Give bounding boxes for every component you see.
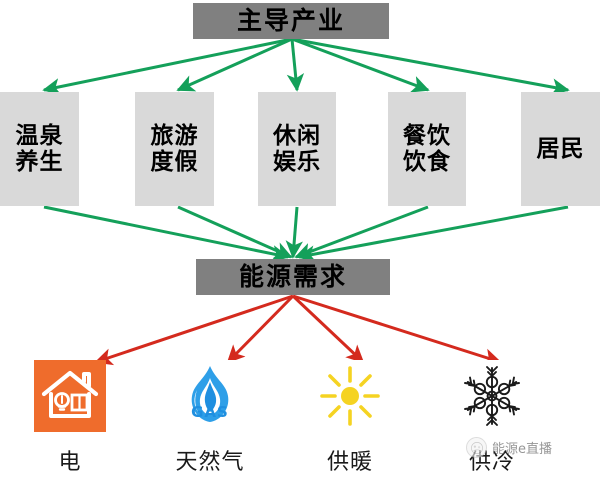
node-category-leisure-label: 休闲 娱乐 xyxy=(273,123,321,175)
energy-label-natural-gas: 天然气 xyxy=(175,444,244,476)
node-category-hot-spring-label: 温泉 养生 xyxy=(16,123,64,175)
node-main-industry[interactable]: 主导产业 xyxy=(193,3,389,39)
node-category-residents-label: 居民 xyxy=(537,136,585,162)
house-electricity-icon xyxy=(34,360,106,432)
diagram-canvas: 主导产业 温泉 养生 旅游 度假 休闲 娱乐 餐饮 饮食 居民 能源需求 xyxy=(0,0,612,483)
watermark-logo-icon xyxy=(466,437,487,458)
watermark-text: 能源e直播 xyxy=(492,438,552,457)
node-category-leisure[interactable]: 休闲 娱乐 xyxy=(258,92,336,206)
node-category-tourism[interactable]: 旅游 度假 xyxy=(135,92,214,206)
energy-item-electricity[interactable]: 电 xyxy=(15,360,125,476)
node-main-industry-label: 主导产业 xyxy=(237,7,345,36)
node-category-hot-spring[interactable]: 温泉 养生 xyxy=(0,92,79,206)
energy-item-natural-gas[interactable]: GAS 天然气 xyxy=(155,360,265,476)
node-category-residents[interactable]: 居民 xyxy=(521,92,600,206)
node-energy-demand-label: 能源需求 xyxy=(239,263,347,292)
node-category-catering-label: 餐饮 饮食 xyxy=(403,123,451,175)
energy-item-cooling[interactable]: 供冷 xyxy=(437,360,547,476)
sun-icon xyxy=(314,360,386,432)
node-energy-demand[interactable]: 能源需求 xyxy=(196,259,390,295)
arrows-main-to-categories xyxy=(44,39,568,90)
energy-item-heating[interactable]: 供暖 xyxy=(295,360,405,476)
arrows-demand-to-energies xyxy=(96,296,500,362)
gas-flame-icon: GAS xyxy=(174,360,246,432)
energy-label-heating: 供暖 xyxy=(327,444,373,476)
energy-label-electricity: 电 xyxy=(58,444,81,476)
snowflake-icon xyxy=(456,360,528,432)
arrows-categories-to-demand xyxy=(44,207,568,257)
watermark: 能源e直播 xyxy=(466,437,552,458)
gas-icon-text: GAS xyxy=(191,403,229,421)
node-category-catering[interactable]: 餐饮 饮食 xyxy=(388,92,466,206)
node-category-tourism-label: 旅游 度假 xyxy=(151,123,199,175)
